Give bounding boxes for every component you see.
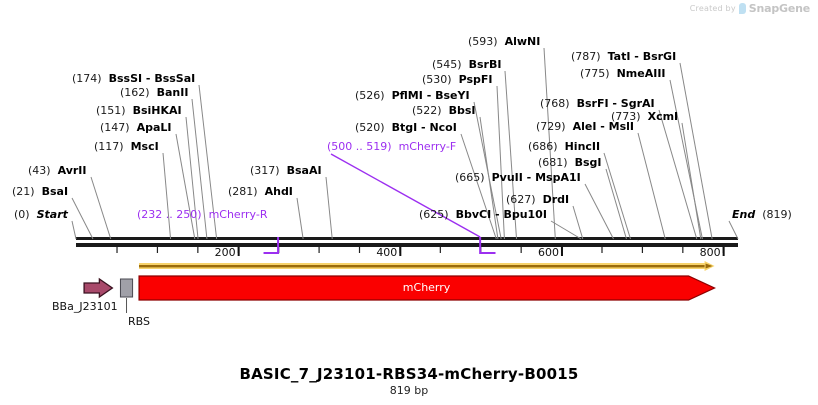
site-label-nmeaiii[interactable]: (775) NmeAIII <box>580 68 666 80</box>
ruler-tick-label: 600 <box>535 246 559 259</box>
site-label-bsihkai[interactable]: (151) BsiHKAI <box>96 105 182 117</box>
primer-name: mCherry-R <box>209 208 268 221</box>
site-label-bsaai[interactable]: (317) BsaAI <box>250 165 322 177</box>
site-label-tati-bsrgi[interactable]: (787) TatI - BsrGI <box>571 51 676 63</box>
site-name-separator: - <box>491 208 503 221</box>
feature-rbs-box[interactable] <box>120 279 132 297</box>
ruler-minor-tick <box>197 247 198 253</box>
site-enzyme-name: BsrFI <box>577 97 609 110</box>
ruler-major-tick <box>238 247 240 256</box>
site-enzyme-name: TatI <box>608 50 631 63</box>
ruler-minor-tick <box>682 247 683 253</box>
site-position: (593) <box>468 35 498 48</box>
terminal-position: (0) <box>14 208 30 221</box>
site-leader-line <box>604 153 630 239</box>
site-label-drdi[interactable]: (627) DrdI <box>506 194 569 206</box>
ruler-minor-tick <box>157 247 158 253</box>
site-enzyme-name: MscI <box>131 140 159 153</box>
site-label-xcmi[interactable]: (773) XcmI <box>611 111 678 123</box>
site-label-bsrfi-sgrai[interactable]: (768) BsrFI - SgrAI <box>540 98 655 110</box>
terminal-position: (819) <box>762 208 792 221</box>
site-position: (117) <box>94 140 124 153</box>
site-enzyme-name: BseYI <box>435 89 469 102</box>
site-enzyme-name: ApaLI <box>137 121 172 134</box>
feature-cds-label: mCherry <box>403 281 451 294</box>
site-name-separator: - <box>417 121 429 134</box>
site-leader-line <box>585 184 614 239</box>
site-leader-line <box>163 153 171 239</box>
site-leader-line <box>72 198 93 239</box>
end-leader-line <box>729 221 738 239</box>
snapgene-logo-icon <box>739 3 746 14</box>
site-position: (147) <box>100 121 130 134</box>
site-label-ahdi[interactable]: (281) AhdI <box>228 186 293 198</box>
site-position: (43) <box>28 164 51 177</box>
site-position: (174) <box>72 72 102 85</box>
site-label-bsssi-bsssai[interactable]: (174) BssSI - BssSaI <box>72 73 195 85</box>
ruler-minor-tick <box>601 247 602 253</box>
site-position: (21) <box>12 185 35 198</box>
site-enzyme-name: PflMI <box>392 89 423 102</box>
site-name-separator: - <box>596 120 608 133</box>
site-label-pflmi-bseyi[interactable]: (526) PflMI - BseYI <box>355 90 470 102</box>
site-enzyme-name: HincII <box>565 140 601 153</box>
ruler-minor-tick <box>642 247 643 253</box>
site-enzyme-name: BssSI <box>109 72 143 85</box>
site-enzyme-name: BbsI <box>449 104 476 117</box>
site-name-separator: - <box>142 72 154 85</box>
feature-promoter-arrow[interactable] <box>84 279 112 297</box>
ruler-minor-tick <box>359 247 360 253</box>
primer-name: mCherry-F <box>399 140 457 153</box>
site-position: (317) <box>250 164 280 177</box>
start-leader-line <box>72 221 76 239</box>
site-enzyme-name: BbvCI <box>456 208 492 221</box>
site-position: (625) <box>419 208 449 221</box>
terminal-label-start: (0) Start <box>14 209 68 221</box>
site-label-apali[interactable]: (147) ApaLI <box>100 122 172 134</box>
ruler-minor-tick <box>318 247 319 253</box>
primer-range: (232 .. 250) <box>137 208 202 221</box>
site-enzyme-name: BsaI <box>42 185 68 198</box>
site-label-bbsi[interactable]: (522) BbsI <box>412 105 476 117</box>
site-label-bsrbi[interactable]: (545) BsrBI <box>432 59 501 71</box>
site-leader-line <box>297 198 303 239</box>
page-subtitle: 819 bp <box>0 384 818 397</box>
ruler-tick-label: 800 <box>697 246 721 259</box>
site-enzyme-name: AvrII <box>58 164 87 177</box>
page-title: BASIC_7_J23101-RBS34-mCherry-B0015 <box>0 365 818 383</box>
plasmid-map-canvas <box>0 0 818 405</box>
terminal-word: End <box>732 208 755 221</box>
site-enzyme-name: BsgI <box>575 156 602 169</box>
site-position: (787) <box>571 50 601 63</box>
backbone-line-bottom <box>76 243 738 247</box>
site-label-msci[interactable]: (117) MscI <box>94 141 159 153</box>
site-enzyme-name: NcoI <box>429 121 456 134</box>
site-position: (522) <box>412 104 442 117</box>
site-label-pspfi[interactable]: (530) PspFI <box>422 74 493 86</box>
site-leader-line <box>91 177 111 239</box>
site-enzyme-name: XcmI <box>648 110 679 123</box>
primer-label-mcherry-f[interactable]: (500 .. 519) mCherry-F <box>327 141 456 153</box>
site-leader-line <box>606 169 626 239</box>
site-enzyme-name: BsrGI <box>643 50 676 63</box>
site-enzyme-name: DrdI <box>543 193 570 206</box>
site-enzyme-name: Bpu10I <box>503 208 547 221</box>
ruler-major-tick <box>399 247 401 256</box>
site-enzyme-name: BssSaI <box>154 72 195 85</box>
ruler-minor-tick <box>440 247 441 253</box>
ruler-tick-label: 400 <box>373 246 397 259</box>
site-enzyme-name: NmeAIII <box>617 67 666 80</box>
site-position: (768) <box>540 97 570 110</box>
site-leader-line <box>326 177 332 239</box>
terminal-label-end: End (819) <box>732 209 792 221</box>
site-position: (162) <box>120 86 150 99</box>
site-enzyme-name: AhdI <box>265 185 293 198</box>
site-label-bsgi[interactable]: (681) BsgI <box>538 157 602 169</box>
site-enzyme-name: AlwNI <box>505 35 541 48</box>
site-label-bsai[interactable]: (21) BsaI <box>12 186 68 198</box>
site-label-avrii[interactable]: (43) AvrII <box>28 165 87 177</box>
site-enzyme-name: BsiHKAI <box>133 104 182 117</box>
backbone-line-top <box>76 237 738 240</box>
site-position: (526) <box>355 89 385 102</box>
site-position: (151) <box>96 104 126 117</box>
primer-range: (500 .. 519) <box>327 140 392 153</box>
site-enzyme-name: BanII <box>157 86 189 99</box>
site-leader-line <box>573 206 583 239</box>
site-name-separator: - <box>630 50 642 63</box>
ruler-major-tick <box>561 247 563 256</box>
site-leader-line <box>659 110 697 239</box>
site-position: (627) <box>506 193 536 206</box>
site-position: (729) <box>536 120 566 133</box>
site-position: (665) <box>455 171 485 184</box>
feature-label-promoter: BBa_J23101 <box>52 300 118 313</box>
site-position: (530) <box>422 73 452 86</box>
site-position: (681) <box>538 156 568 169</box>
site-leader-line <box>638 133 665 239</box>
site-label-bbvci-bpu10i[interactable]: (625) BbvCI - Bpu10I <box>419 209 547 221</box>
site-position: (775) <box>580 67 610 80</box>
site-position: (545) <box>432 58 462 71</box>
site-position: (520) <box>355 121 385 134</box>
terminal-word: Start <box>37 208 68 221</box>
ruler-minor-tick <box>116 247 117 253</box>
site-enzyme-name: PspFI <box>459 73 493 86</box>
site-position: (281) <box>228 185 258 198</box>
site-leader-line <box>176 134 195 239</box>
site-position: (686) <box>528 140 558 153</box>
site-name-separator: - <box>423 89 435 102</box>
site-enzyme-name: SgrAI <box>621 97 655 110</box>
primer-label-mcherry-r[interactable]: (232 .. 250) mCherry-R <box>137 209 267 221</box>
site-enzyme-name: MspA1I <box>535 171 581 184</box>
ruler-minor-tick <box>521 247 522 253</box>
watermark-created-by: Created by <box>690 4 736 13</box>
site-label-pvuii-mspa1i[interactable]: (665) PvuII - MspA1I <box>455 172 581 184</box>
site-enzyme-name: BsrBI <box>469 58 502 71</box>
site-name-separator: - <box>609 97 621 110</box>
site-enzyme-name: PvuII <box>492 171 523 184</box>
ruler-major-tick <box>723 247 725 256</box>
watermark-brand: SnapGene <box>749 2 810 15</box>
site-position: (773) <box>611 110 641 123</box>
feature-label-rbs: RBS <box>128 315 150 328</box>
snapgene-watermark: Created by SnapGene <box>690 2 810 15</box>
site-enzyme-name: AleI <box>573 120 597 133</box>
site-label-alwni[interactable]: (593) AlwNI <box>468 36 540 48</box>
site-enzyme-name: BtgI <box>392 121 418 134</box>
site-label-hincii[interactable]: (686) HincII <box>528 141 600 153</box>
site-label-banii[interactable]: (162) BanII <box>120 87 188 99</box>
ruler-tick-label: 200 <box>212 246 236 259</box>
site-label-btgi-ncoi[interactable]: (520) BtgI - NcoI <box>355 122 457 134</box>
primer-leader-line <box>331 154 480 237</box>
site-enzyme-name: BsaAI <box>287 164 322 177</box>
cds-span-core <box>139 265 709 267</box>
site-name-separator: - <box>523 171 535 184</box>
